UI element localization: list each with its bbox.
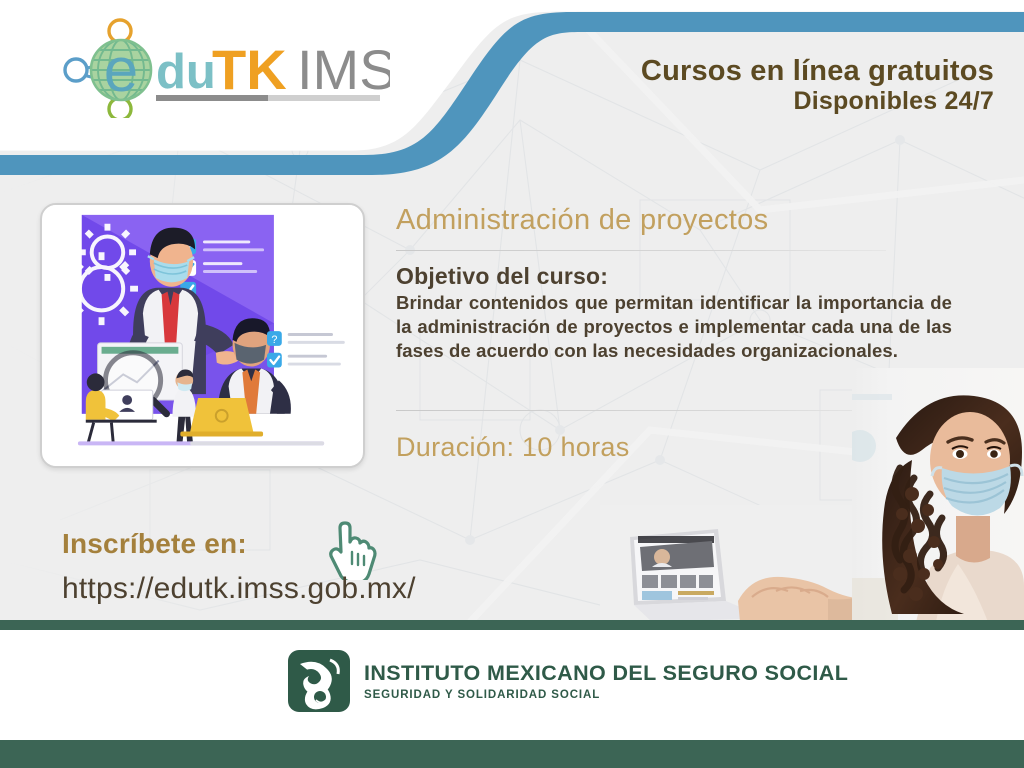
logo-artwork: e du TK IMSS: [60, 18, 390, 118]
course-title: Administración de proyectos: [396, 204, 896, 237]
divider-bottom: [396, 410, 886, 411]
header-tagline: Cursos en línea gratuitos Disponibles 24…: [641, 55, 994, 115]
course-duration: Duración: 10 horas: [396, 432, 630, 463]
enroll-url[interactable]: https://edutk.imss.gob.mx/: [62, 572, 416, 606]
logo-edu-text: du: [156, 45, 216, 99]
course-illustration-card: ?: [40, 203, 365, 468]
enroll-label: Inscríbete en:: [62, 528, 247, 560]
header-tagline-line2: Disponibles 24/7: [641, 87, 994, 115]
divider-top: [396, 250, 886, 251]
logo-tk-text: TK: [212, 38, 287, 101]
svg-text:?: ?: [271, 334, 277, 346]
logo-underline-light: [268, 95, 380, 101]
logo-underline-dark: [156, 95, 268, 101]
woman-with-face-mask-photo: [852, 368, 1024, 622]
objective-label: Objetivo del curso:: [396, 263, 608, 290]
project-management-illustration: ?: [42, 205, 363, 466]
logo-e-letter: e: [104, 36, 138, 105]
imss-eagle-mother-mark: [288, 650, 350, 712]
imss-logo: INSTITUTO MEXICANO DEL SEGURO SOCIAL SEG…: [288, 645, 738, 717]
pointing-hand-cursor-icon[interactable]: [318, 518, 380, 580]
imss-name-line1: INSTITUTO MEXICANO DEL SEGURO SOCIAL: [364, 661, 848, 686]
logo-imss-text: IMSS: [297, 38, 390, 101]
imss-name-line2: SEGURIDAD Y SOLIDARIDAD SOCIAL: [364, 689, 848, 701]
poster-canvas: e du TK IMSS Cursos en línea gratuitos D…: [0, 0, 1024, 768]
logo-left-ring-icon: [65, 59, 87, 81]
footer-band-top: [0, 620, 1024, 630]
header-tagline-line1: Cursos en línea gratuitos: [641, 55, 994, 87]
objective-text: Brindar contenidos que permitan identifi…: [396, 291, 952, 363]
edutk-imss-logo[interactable]: e du TK IMSS: [60, 18, 390, 118]
footer-band-bottom: [0, 740, 1024, 768]
